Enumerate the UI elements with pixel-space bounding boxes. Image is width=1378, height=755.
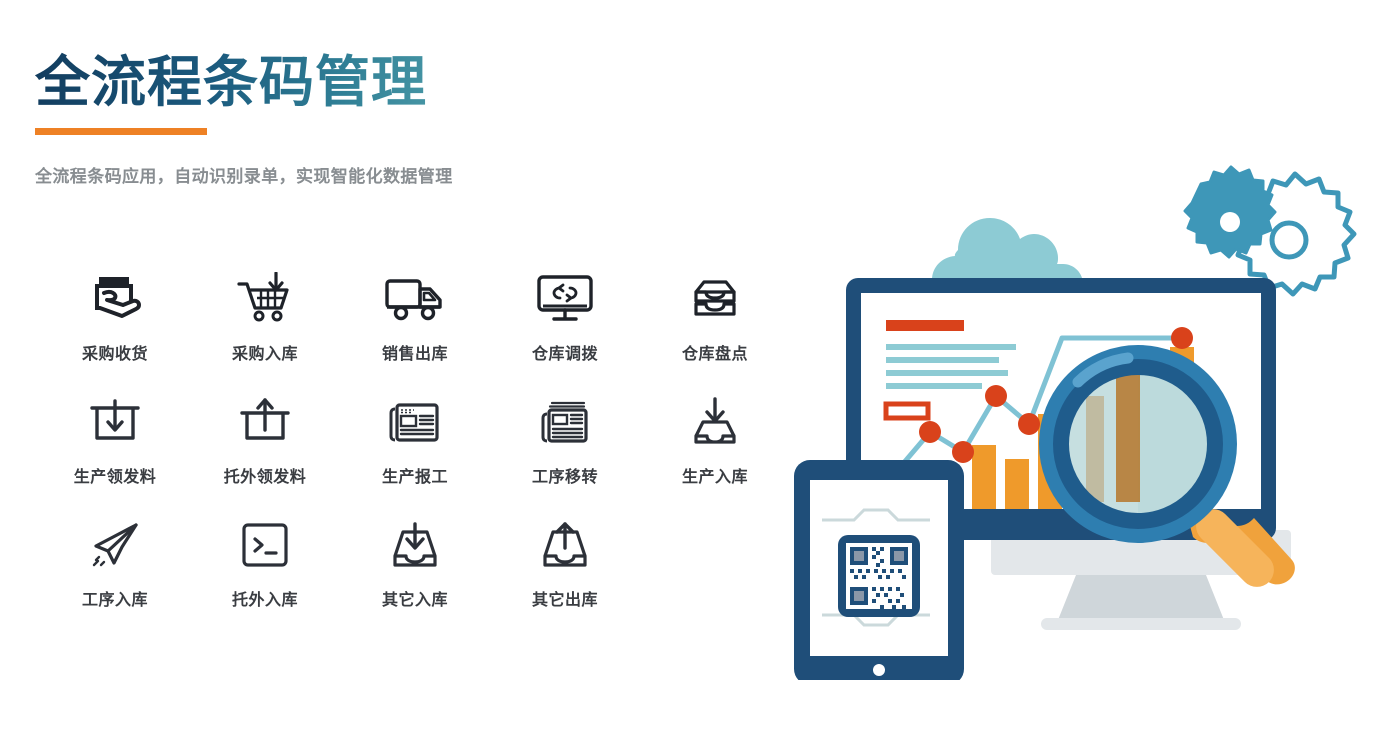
feature-cell-sales-outstock[interactable]: 销售出库	[340, 268, 490, 364]
feature-cell-process-transfer[interactable]: 工序移转	[490, 391, 640, 487]
monitor-transfer-icon	[535, 268, 595, 330]
feature-label: 销售出库	[382, 340, 448, 364]
feature-cell-purchase-receipt[interactable]: 采购收货	[40, 268, 190, 364]
feature-cell-production-report[interactable]: 生产报工	[340, 391, 490, 487]
title-underline-rule	[35, 128, 207, 135]
terminal-prompt-icon	[239, 514, 291, 576]
feature-cell-warehouse-transfer[interactable]: 仓库调拨	[490, 268, 640, 364]
feature-cell-process-instock[interactable]: 工序入库	[40, 514, 190, 610]
newspaper-report-icon	[386, 391, 444, 453]
feature-label: 托外入库	[232, 586, 298, 610]
feature-label: 生产入库	[682, 463, 748, 487]
page-root: 全流程条码管理 全流程条码应用，自动识别录单，实现智能化数据管理 采购收货	[0, 0, 1378, 755]
page-title: 全流程条码管理	[35, 52, 453, 114]
feature-label: 生产领发料	[74, 463, 157, 487]
inbox-down-arrow-icon	[686, 391, 744, 453]
feature-cell-outsource-instock[interactable]: 托外入库	[190, 514, 340, 610]
box-up-arrow-icon	[236, 391, 294, 453]
stacked-trays-icon	[684, 268, 746, 330]
feature-label: 采购入库	[232, 340, 298, 364]
hand-box-icon	[85, 268, 145, 330]
grid-row: 生产领发料 托外领发料	[40, 391, 800, 487]
header: 全流程条码管理 全流程条码应用，自动识别录单，实现智能化数据管理	[35, 52, 453, 187]
feature-label: 工序入库	[82, 586, 148, 610]
feature-label: 生产报工	[382, 463, 448, 487]
feature-cell-other-instock[interactable]: 其它入库	[340, 514, 490, 610]
feature-cell-production-issue[interactable]: 生产领发料	[40, 391, 190, 487]
delivery-truck-icon	[384, 268, 446, 330]
grid-row: 工序入库 托外入库	[40, 514, 800, 610]
feature-label: 托外领发料	[224, 463, 307, 487]
grid-row: 采购收货 采购入库	[40, 268, 800, 364]
paper-plane-icon	[86, 514, 144, 576]
screen-heading-bar	[886, 320, 964, 331]
feature-cell-outsource-issue[interactable]: 托外领发料	[190, 391, 340, 487]
feature-icon-grid: 采购收货 采购入库	[40, 268, 800, 637]
feature-label: 其它出库	[532, 586, 598, 610]
feature-cell-production-instock[interactable]: 生产入库	[640, 391, 790, 487]
feature-label: 仓库盘点	[682, 340, 748, 364]
cart-down-arrow-icon	[235, 268, 295, 330]
feature-cell-purchase-instock[interactable]: 采购入库	[190, 268, 340, 364]
page-subtitle: 全流程条码应用，自动识别录单，实现智能化数据管理	[35, 162, 453, 187]
newspaper-transfer-icon	[536, 391, 594, 453]
tray-out-icon	[536, 514, 594, 576]
gear-small	[1185, 167, 1275, 257]
feature-label: 其它入库	[382, 586, 448, 610]
tray-in-icon	[386, 514, 444, 576]
feature-cell-warehouse-stocktake[interactable]: 仓库盘点	[640, 268, 790, 364]
box-down-arrow-icon	[86, 391, 144, 453]
feature-label: 工序移转	[532, 463, 598, 487]
tablet-home-button	[873, 664, 885, 676]
feature-label: 仓库调拨	[532, 340, 598, 364]
tablet	[794, 460, 964, 680]
feature-cell-other-outstock[interactable]: 其它出库	[490, 514, 640, 610]
barcode-analytics-illustration	[786, 160, 1378, 680]
feature-label: 采购收货	[82, 340, 148, 364]
